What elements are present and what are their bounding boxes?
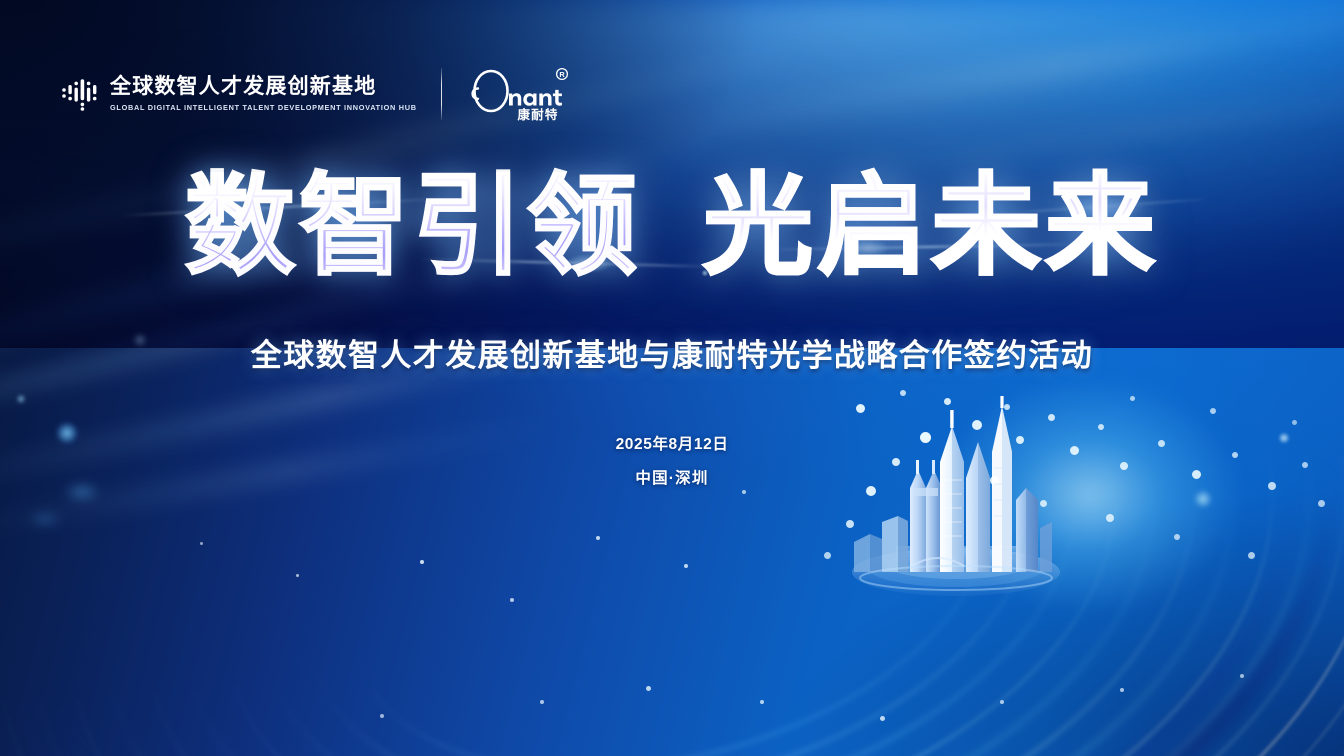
hero-title: 数智引领光启未来: [185, 172, 1159, 282]
poster-canvas: 全球数智人才发展创新基地 GLOBAL DIGITAL INTELLIGENT …: [0, 0, 1344, 756]
hero-title-part-1: 数智引领: [185, 165, 641, 288]
hub-name-cn: 全球数智人才发展创新基地: [110, 76, 417, 98]
hub-wordmark: 全球数智人才发展创新基地 GLOBAL DIGITAL INTELLIGENT …: [110, 76, 417, 111]
logo-divider: [441, 68, 442, 120]
event-date: 2025年8月12日: [0, 432, 1344, 454]
logo-lockup: 全球数智人才发展创新基地 GLOBAL DIGITAL INTELLIGENT …: [60, 66, 572, 122]
event-location: 中国·深圳: [0, 466, 1344, 488]
dot-matrix-waveform-icon: [60, 74, 100, 114]
partner-name-cn: 康耐特: [518, 107, 559, 122]
hero-title-block: 数智引领光启未来: [0, 172, 1344, 282]
hub-name-en: GLOBAL DIGITAL INTELLIGENT TALENT DEVELO…: [110, 103, 417, 111]
partner-logo-conant: R 康耐特: [464, 66, 572, 122]
svg-text:R: R: [559, 70, 565, 79]
city-skyline-illustration: [836, 396, 1086, 602]
hero-subtitle: 全球数智人才发展创新基地与康耐特光学战略合作签约活动: [0, 330, 1344, 375]
event-meta: 2025年8月12日 中国·深圳: [0, 432, 1344, 488]
trademark-icon: R: [557, 69, 568, 80]
hero-title-part-2: 光启未来: [703, 165, 1159, 288]
light-ribbon-swirl: [0, 227, 1344, 756]
